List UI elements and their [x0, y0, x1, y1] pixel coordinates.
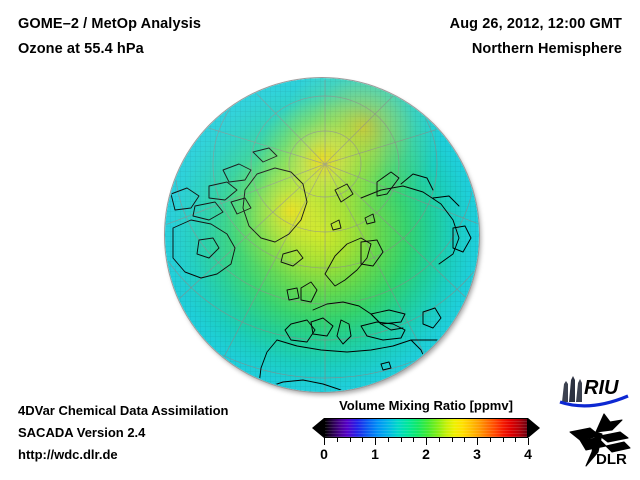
colorbar-minor-tick [515, 438, 516, 442]
colorbar-minor-tick [413, 438, 414, 442]
title-line-2: Ozone at 55.4 hPa [18, 37, 348, 62]
globe-map [165, 78, 479, 392]
header-left: GOME–2 / MetOp Analysis Ozone at 55.4 hP… [18, 12, 348, 62]
timestamp-label: Aug 26, 2012, 12:00 GMT [322, 12, 622, 37]
footer-line-2: SACADA Version 2.4 [18, 422, 229, 444]
colorbar-minor-tick [439, 438, 440, 442]
limb-shading [165, 78, 479, 392]
title-line-1: GOME–2 / MetOp Analysis [18, 12, 348, 37]
colorbar-minor-tick [401, 438, 402, 442]
colorbar-minor-tick [362, 438, 363, 442]
colorbar-tick-label: 4 [524, 446, 532, 462]
colorbar-tick-label: 2 [422, 446, 430, 462]
colorbar-minor-tick [464, 438, 465, 442]
colorbar-title: Volume Mixing Ratio [ppmv] [312, 398, 540, 413]
colorbar-tick-label: 3 [473, 446, 481, 462]
colorbar-minor-tick [388, 438, 389, 442]
colorbar-major-tick [528, 438, 529, 445]
colorbar-extend-low-icon [312, 418, 324, 438]
footer-text: 4DVar Chemical Data Assimilation SACADA … [18, 400, 229, 466]
footer-line-1: 4DVar Chemical Data Assimilation [18, 400, 229, 422]
colorbar-tick-labels: 01234 [324, 446, 528, 466]
colorbar-major-tick [426, 438, 427, 445]
colorbar-gradient [324, 418, 528, 438]
colorbar-minor-tick [490, 438, 491, 442]
colorbar-major-tick [375, 438, 376, 445]
footer-url: http://wdc.dlr.de [18, 444, 229, 466]
colorbar-extend-high-icon [528, 418, 540, 438]
colorbar-tick-label: 1 [371, 446, 379, 462]
riu-wordmark: RIU [584, 377, 619, 399]
colorbar-minor-tick [452, 438, 453, 442]
riu-logo: RIU [556, 372, 632, 408]
colorbar-major-tick [477, 438, 478, 445]
dlr-wordmark: DLR [596, 451, 627, 468]
header-right: Aug 26, 2012, 12:00 GMT Northern Hemisph… [322, 12, 622, 62]
figure-canvas: GOME–2 / MetOp Analysis Ozone at 55.4 hP… [0, 0, 640, 480]
colorbar-minor-tick [337, 438, 338, 442]
colorbar-minor-tick [350, 438, 351, 442]
riu-towers-icon [562, 376, 582, 402]
colorbar-ticks [324, 438, 528, 446]
hemisphere-label: Northern Hemisphere [322, 37, 622, 62]
colorbar-tick-label: 0 [320, 446, 328, 462]
dlr-logo: DLR [566, 412, 634, 468]
colorbar-row [312, 418, 540, 438]
globe-sphere [165, 78, 479, 392]
colorbar-major-tick [324, 438, 325, 445]
colorbar-minor-tick [503, 438, 504, 442]
colorbar: Volume Mixing Ratio [ppmv] 01234 [312, 398, 540, 466]
